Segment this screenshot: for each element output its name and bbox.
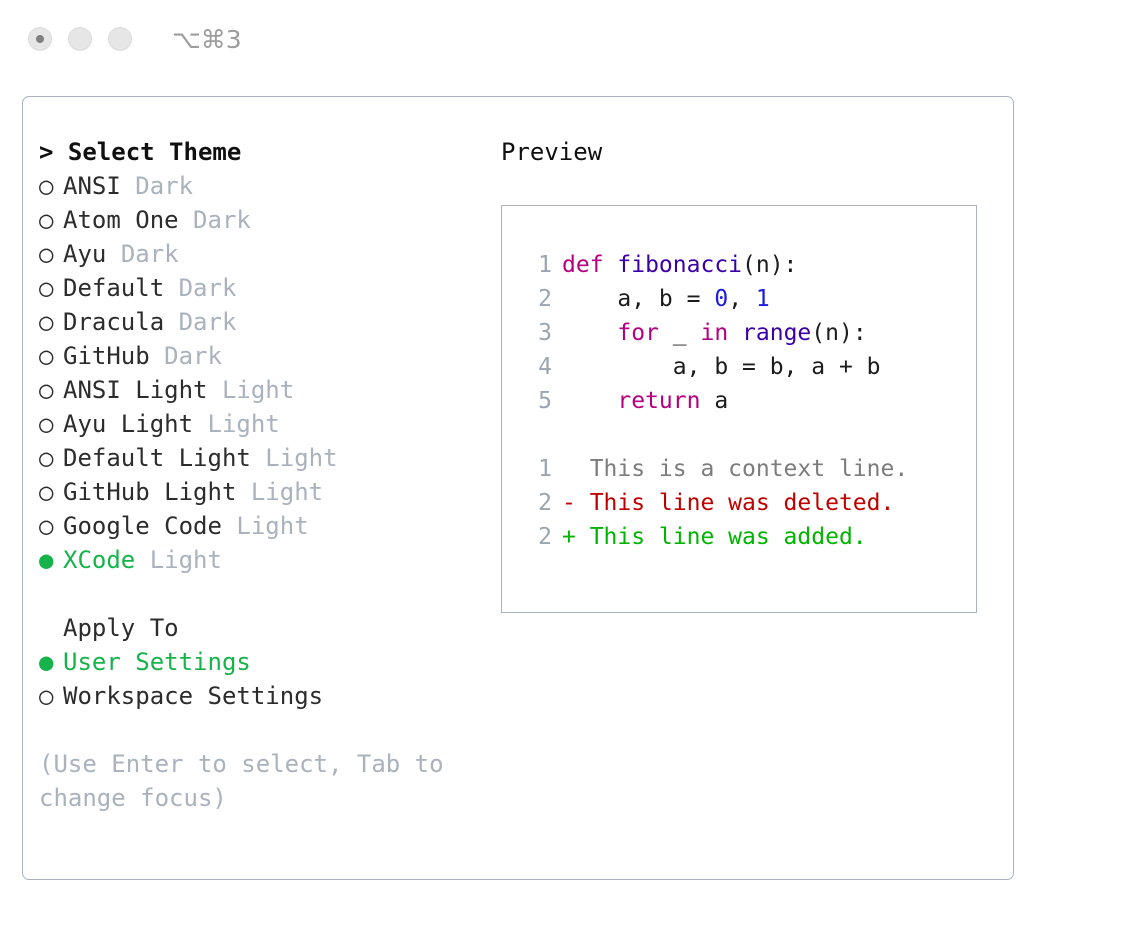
code-token: [562, 388, 617, 414]
window-shortcut-label: ⌥⌘3: [172, 27, 242, 52]
code-token: in: [700, 320, 728, 346]
radio-unselected-icon: ○: [39, 169, 63, 203]
diff-line-number: 2: [518, 486, 552, 520]
code-token: a: [700, 388, 728, 414]
apply-to-option-label: User Settings: [63, 648, 251, 676]
code-token: _: [659, 320, 701, 346]
code-line: 1def fibonacci(n):: [518, 248, 976, 282]
apply-to-option[interactable]: ●User Settings: [39, 645, 479, 679]
code-token: for: [617, 320, 659, 346]
theme-variant-badge: Dark: [164, 342, 222, 370]
theme-option-label: Atom One: [63, 206, 179, 234]
theme-option[interactable]: ○Default Dark: [39, 271, 479, 305]
code-token: a, b = b, a + b: [562, 354, 881, 380]
radio-unselected-icon: ○: [39, 339, 63, 373]
radio-unselected-icon: ○: [39, 237, 63, 271]
theme-option-gap: [150, 342, 164, 370]
code-token: a, b =: [562, 286, 714, 312]
theme-picker-dialog: > Select Theme ○ANSI Dark○Atom One Dark○…: [22, 96, 1014, 880]
traffic-light-indicator: [36, 35, 44, 43]
apply-to-option[interactable]: ○Workspace Settings: [39, 679, 479, 713]
theme-option-label: Dracula: [63, 308, 164, 336]
theme-option-label: GitHub: [63, 342, 150, 370]
apply-to-heading-indent: [39, 611, 63, 645]
theme-option[interactable]: ○GitHub Light Light: [39, 475, 479, 509]
code-token: return: [617, 388, 700, 414]
diff-line: 2+ This line was added.: [518, 520, 976, 554]
diff-line-text: This is a context line.: [562, 456, 908, 482]
theme-variant-badge: Light: [208, 410, 280, 438]
code-token: 0: [714, 286, 728, 312]
radio-unselected-icon: ○: [39, 305, 63, 339]
radio-unselected-icon: ○: [39, 475, 63, 509]
theme-option[interactable]: ○Dracula Dark: [39, 305, 479, 339]
code-line-number: 3: [518, 316, 552, 350]
theme-option-gap: [106, 240, 120, 268]
code-token: range: [742, 320, 811, 346]
radio-selected-icon: ●: [39, 645, 63, 679]
theme-option-label: ANSI: [63, 172, 121, 200]
code-token: [562, 320, 617, 346]
traffic-light-button-1[interactable]: [28, 27, 52, 51]
theme-variant-badge: Dark: [193, 206, 251, 234]
diff-line-number: 1: [518, 452, 552, 486]
theme-option-gap: [179, 206, 193, 234]
apply-to-heading-label: Apply To: [63, 614, 179, 642]
radio-unselected-icon: ○: [39, 271, 63, 305]
title-bar: ⌥⌘3: [0, 0, 1140, 78]
theme-option[interactable]: ○Ayu Dark: [39, 237, 479, 271]
code-sample: 1def fibonacci(n):2 a, b = 0, 13 for _ i…: [518, 248, 976, 418]
code-line-number: 4: [518, 350, 552, 384]
theme-variant-badge: Dark: [179, 308, 237, 336]
radio-unselected-icon: ○: [39, 679, 63, 713]
app-window: ⌥⌘3 > Select Theme ○ANSI Dark○Atom One D…: [0, 0, 1140, 934]
theme-option-label: Default Light: [63, 444, 251, 472]
code-line: 2 a, b = 0, 1: [518, 282, 976, 316]
diff-sample: 1 This is a context line.2- This line wa…: [518, 452, 976, 554]
radio-unselected-icon: ○: [39, 509, 63, 543]
traffic-light-button-3[interactable]: [108, 27, 132, 51]
theme-option[interactable]: ○Ayu Light Light: [39, 407, 479, 441]
code-line-number: 2: [518, 282, 552, 316]
theme-option[interactable]: ○ANSI Light Light: [39, 373, 479, 407]
diff-line-number: 2: [518, 520, 552, 554]
theme-option-label: Google Code: [63, 512, 222, 540]
code-token: ,: [728, 286, 756, 312]
theme-option-gap: [236, 478, 250, 506]
theme-option[interactable]: ●XCode Light: [39, 543, 479, 577]
diff-line: 1 This is a context line.: [518, 452, 976, 486]
select-theme-heading: > Select Theme: [39, 135, 479, 169]
diff-line-text: - This line was deleted.: [562, 490, 894, 516]
theme-option-gap: [164, 274, 178, 302]
theme-option-label: Ayu Light: [63, 410, 193, 438]
radio-unselected-icon: ○: [39, 373, 63, 407]
theme-option-label: ANSI Light: [63, 376, 208, 404]
apply-to-panel: Apply To ●User Settings○Workspace Settin…: [39, 611, 479, 713]
theme-option-gap: [208, 376, 222, 404]
theme-variant-badge: Light: [222, 376, 294, 404]
theme-list[interactable]: ○ANSI Dark○Atom One Dark○Ayu Dark○Defaul…: [39, 169, 479, 577]
radio-unselected-icon: ○: [39, 441, 63, 475]
theme-variant-badge: Light: [236, 512, 308, 540]
theme-option-label: XCode: [63, 546, 135, 574]
code-token: (n):: [811, 320, 866, 346]
code-line: 4 a, b = b, a + b: [518, 350, 976, 384]
preview-heading: Preview: [501, 135, 1001, 169]
code-line-number: 5: [518, 384, 552, 418]
theme-option[interactable]: ○Atom One Dark: [39, 203, 479, 237]
theme-variant-badge: Dark: [179, 274, 237, 302]
code-token: 1: [756, 286, 770, 312]
theme-option-label: Ayu: [63, 240, 106, 268]
traffic-light-button-2[interactable]: [68, 27, 92, 51]
preview-box: 1def fibonacci(n):2 a, b = 0, 13 for _ i…: [501, 205, 977, 613]
diff-line-text: + This line was added.: [562, 524, 867, 550]
theme-option-gap: [164, 308, 178, 336]
preview-panel: Preview 1def fibonacci(n):2 a, b = 0, 13…: [501, 135, 1001, 613]
theme-option-gap: [251, 444, 265, 472]
theme-option-gap: [193, 410, 207, 438]
theme-option-label: GitHub Light: [63, 478, 236, 506]
theme-option-gap: [222, 512, 236, 540]
theme-variant-badge: Light: [265, 444, 337, 472]
theme-variant-badge: Light: [150, 546, 222, 574]
code-line: 3 for _ in range(n):: [518, 316, 976, 350]
diff-line: 2- This line was deleted.: [518, 486, 976, 520]
theme-selection-panel: > Select Theme ○ANSI Dark○Atom One Dark○…: [39, 135, 479, 815]
apply-to-heading: Apply To: [39, 611, 479, 645]
radio-selected-icon: ●: [39, 543, 63, 577]
preview-spacer: [518, 418, 976, 452]
apply-to-option-label: Workspace Settings: [63, 682, 323, 710]
code-token: fibonacci: [617, 252, 742, 278]
theme-option[interactable]: ○GitHub Dark: [39, 339, 479, 373]
theme-variant-badge: Light: [251, 478, 323, 506]
theme-option[interactable]: ○Google Code Light: [39, 509, 479, 543]
code-token: def: [562, 252, 617, 278]
theme-variant-badge: Dark: [135, 172, 193, 200]
keyboard-hint-text: (Use Enter to select, Tab to change focu…: [39, 747, 449, 815]
apply-to-list[interactable]: ●User Settings○Workspace Settings: [39, 645, 479, 713]
code-line-number: 1: [518, 248, 552, 282]
theme-option[interactable]: ○Default Light Light: [39, 441, 479, 475]
theme-option[interactable]: ○ANSI Dark: [39, 169, 479, 203]
theme-option-gap: [135, 546, 149, 574]
code-token: (n):: [742, 252, 797, 278]
code-line: 5 return a: [518, 384, 976, 418]
theme-variant-badge: Dark: [121, 240, 179, 268]
radio-unselected-icon: ○: [39, 203, 63, 237]
theme-option-gap: [121, 172, 135, 200]
code-token: [728, 320, 742, 346]
radio-unselected-icon: ○: [39, 407, 63, 441]
theme-option-label: Default: [63, 274, 164, 302]
